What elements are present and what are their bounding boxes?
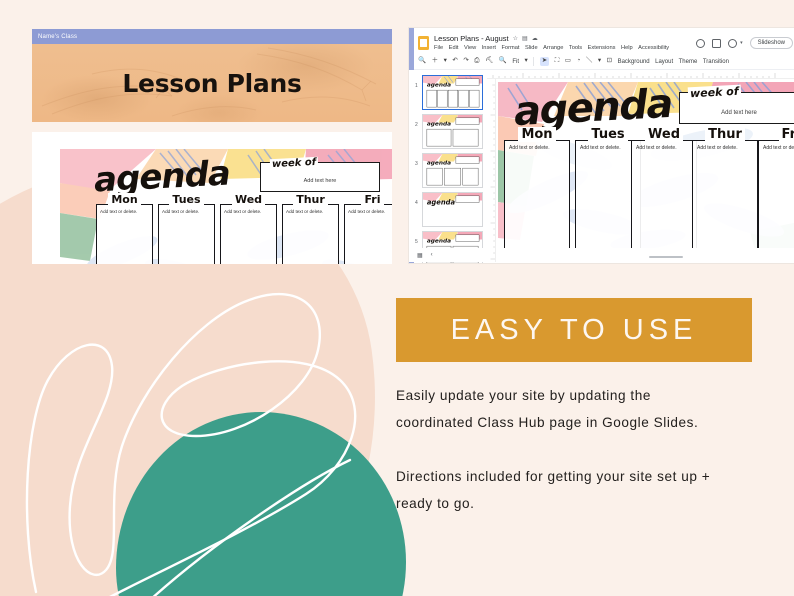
horizontal-ruler: [487, 70, 794, 79]
day-label-mon: Mon: [504, 127, 570, 142]
vertical-ruler: [487, 79, 496, 262]
slide-thumbnail[interactable]: agenda: [422, 75, 483, 110]
day-label-thur: Thur: [692, 127, 758, 142]
menu-item-arrange[interactable]: Arrange: [543, 45, 563, 51]
day-hint-tues: Add text or delete.: [162, 209, 211, 214]
site-navbar: Name's Class: [32, 29, 392, 44]
svg-text:agenda: agenda: [427, 160, 451, 166]
day-hint-mon: Add text or delete.: [100, 209, 149, 214]
thumbnail-preview-icon: agenda: [423, 115, 482, 148]
day-label-mon: Mon: [96, 193, 153, 206]
collapse-panel-icon[interactable]: ‹: [431, 252, 433, 258]
menu-item-view[interactable]: View: [464, 45, 476, 51]
day-label-fri: Fri: [344, 193, 392, 206]
chevron-down-icon[interactable]: ▾: [444, 58, 447, 65]
site-agenda-embed: agenda Add text here week of Mon Add tex…: [60, 149, 392, 264]
menu-item-format[interactable]: Format: [501, 45, 519, 51]
svg-text:agenda: agenda: [427, 238, 451, 244]
svg-text:agenda: agenda: [427, 198, 456, 206]
slides-doc-icon: [418, 36, 429, 50]
day-hint-tues: Add text or delete.: [580, 145, 638, 151]
theme-button[interactable]: Theme: [679, 59, 698, 65]
slide-number: 2: [415, 114, 422, 128]
copy-paragraph-2: Directions included for getting your sit…: [396, 463, 726, 517]
day-label-wed: Wed: [631, 127, 697, 142]
star-icon[interactable]: ☆: [513, 36, 518, 42]
menu-item-insert[interactable]: Insert: [482, 45, 496, 51]
week-of-hint: Add text here: [304, 178, 337, 184]
day-column-mon[interactable]: [504, 140, 570, 248]
slide-canvas-area: agenda Add text here week of Mon Add tex…: [487, 70, 794, 262]
comment-icon[interactable]: [712, 39, 721, 48]
day-column-fri[interactable]: [758, 140, 794, 248]
document-title[interactable]: Lesson Plans - August: [434, 34, 509, 43]
filmstrip-item-1[interactable]: 1 agenda: [415, 75, 483, 110]
line-icon[interactable]: ＼: [586, 58, 593, 65]
grid-view-icon[interactable]: ▦: [417, 252, 423, 259]
filmstrip-item-3[interactable]: 3 agenda: [415, 153, 483, 188]
day-label-tues: Tues: [158, 193, 215, 206]
toolbar-divider: [533, 57, 534, 66]
promo-graphic: Name's Class Lesson Plans: [0, 0, 794, 596]
transition-button[interactable]: Transition: [703, 59, 729, 65]
copy-paragraph-1: Easily update your site by updating the …: [396, 382, 726, 436]
layout-button[interactable]: Layout: [655, 59, 673, 65]
easy-to-use-banner: EASY TO USE: [396, 298, 752, 362]
zoom-value[interactable]: Fit: [512, 59, 519, 65]
textbox-icon[interactable]: ▭: [565, 58, 571, 65]
plus-icon[interactable]: ＋: [432, 58, 439, 65]
redo-icon[interactable]: ↷: [463, 58, 468, 65]
thumbnail-preview-icon: agenda: [423, 154, 482, 187]
search-icon[interactable]: 🔍: [418, 58, 426, 65]
body-copy: Easily update your site by updating the …: [396, 382, 726, 517]
day-column-thur[interactable]: [692, 140, 758, 248]
slide-thumbnail[interactable]: agenda: [422, 192, 483, 227]
canvas-scrollbar[interactable]: [649, 256, 683, 258]
day-hint-wed: Add text or delete.: [224, 209, 273, 214]
undo-icon[interactable]: ↶: [452, 58, 457, 65]
thumbnail-preview-icon: agenda: [423, 76, 482, 109]
menu-item-accessibility[interactable]: Accessibility: [638, 45, 669, 51]
day-label-fri: Fri: [758, 127, 794, 142]
site-spacer: [32, 122, 392, 132]
menu-item-file[interactable]: File: [434, 45, 443, 51]
day-hint-fri: Add text or delete.: [348, 209, 392, 214]
ruler-ticks-icon: [487, 79, 495, 262]
slides-header: Lesson Plans - August ☆ ▤ ☁ File Edit Vi…: [409, 28, 794, 55]
slides-body: 1 agenda: [409, 70, 794, 262]
slide-thumbnail[interactable]: agenda: [422, 153, 483, 188]
thumbnail-preview-icon: agenda: [423, 193, 482, 226]
site-preview-card: Name's Class Lesson Plans: [32, 29, 392, 264]
slide-filmstrip[interactable]: 1 agenda: [409, 70, 487, 262]
menu-bar: File Edit View Insert Format Slide Arran…: [434, 45, 696, 51]
chevron-down-icon[interactable]: ▾: [525, 58, 528, 65]
day-hint-mon: Add text or delete.: [509, 145, 567, 151]
slides-toolbar: 🔍 ＋ ▾ ↶ ↷ ⎙ ⛏ 🔍 Fit ▾ ➤ ⛶ ▭ ◔ ＼ ▾ ⊡ Back…: [409, 55, 794, 70]
zoom-icon[interactable]: 🔍: [499, 58, 507, 65]
site-hero-title: Lesson Plans: [122, 69, 301, 98]
ruler-ticks-icon: [487, 70, 787, 78]
cloud-status-icon[interactable]: ☁: [532, 36, 538, 42]
week-of-label: week of: [688, 85, 741, 101]
comment-add-icon[interactable]: ⊡: [607, 58, 612, 65]
header-actions: ▾ Slideshow: [696, 34, 793, 49]
day-hint-thur: Add text or delete.: [286, 209, 335, 214]
site-hero-banner: Lesson Plans: [32, 44, 392, 122]
filmstrip-item-4[interactable]: 4 agenda: [415, 192, 483, 227]
slide-number: 1: [415, 75, 422, 89]
svg-text:agenda: agenda: [427, 121, 451, 127]
day-hint-thur: Add text or delete.: [697, 145, 755, 151]
select-cursor-icon[interactable]: ➤: [540, 57, 549, 66]
day-hint-wed: Add text or delete.: [636, 145, 694, 151]
menu-item-edit[interactable]: Edit: [449, 45, 459, 51]
day-hint-fri: Add text or delete.: [763, 145, 794, 151]
print-icon[interactable]: ⎙: [474, 58, 479, 65]
site-brand-label: Name's Class: [32, 34, 77, 40]
day-label-wed: Wed: [220, 193, 277, 206]
filmstrip-statusbar: ▦ ‹: [409, 248, 487, 262]
background-button[interactable]: Background: [618, 59, 650, 65]
filmstrip-item-2[interactable]: 2 agenda: [415, 114, 483, 149]
slide-number: 3: [415, 153, 422, 167]
shape-icon[interactable]: ◔: [576, 58, 580, 65]
menu-item-tools[interactable]: Tools: [569, 45, 582, 51]
move-folder-icon[interactable]: ▤: [522, 36, 528, 42]
white-line-art-decoration: [0, 270, 420, 596]
slide-thumbnail[interactable]: agenda: [422, 114, 483, 149]
week-of-hint: Add text here: [721, 110, 757, 116]
svg-text:agenda: agenda: [427, 82, 451, 88]
paint-format-icon[interactable]: ⛏: [485, 58, 493, 65]
day-column-wed[interactable]: [631, 140, 697, 248]
clock-history-icon[interactable]: [696, 39, 705, 48]
slide-number: 4: [415, 192, 422, 206]
menu-item-slide[interactable]: Slide: [525, 45, 538, 51]
video-meet-icon[interactable]: [728, 39, 737, 48]
slideshow-button[interactable]: Slideshow: [750, 37, 793, 49]
active-slide[interactable]: agenda Add text here week of Mon Add tex…: [498, 82, 794, 248]
menu-item-extensions[interactable]: Extensions: [588, 45, 616, 51]
banner-heading: EASY TO USE: [451, 314, 698, 347]
chevron-down-icon[interactable]: ▾: [740, 40, 743, 46]
google-slides-window: Lesson Plans - August ☆ ▤ ☁ File Edit Vi…: [409, 28, 794, 263]
menu-item-help[interactable]: Help: [621, 45, 633, 51]
zoom-select-icon[interactable]: ⛶: [555, 58, 560, 65]
slide-number: 5: [415, 231, 422, 245]
chevron-down-icon[interactable]: ▾: [598, 58, 601, 65]
day-label-thur: Thur: [282, 193, 339, 206]
